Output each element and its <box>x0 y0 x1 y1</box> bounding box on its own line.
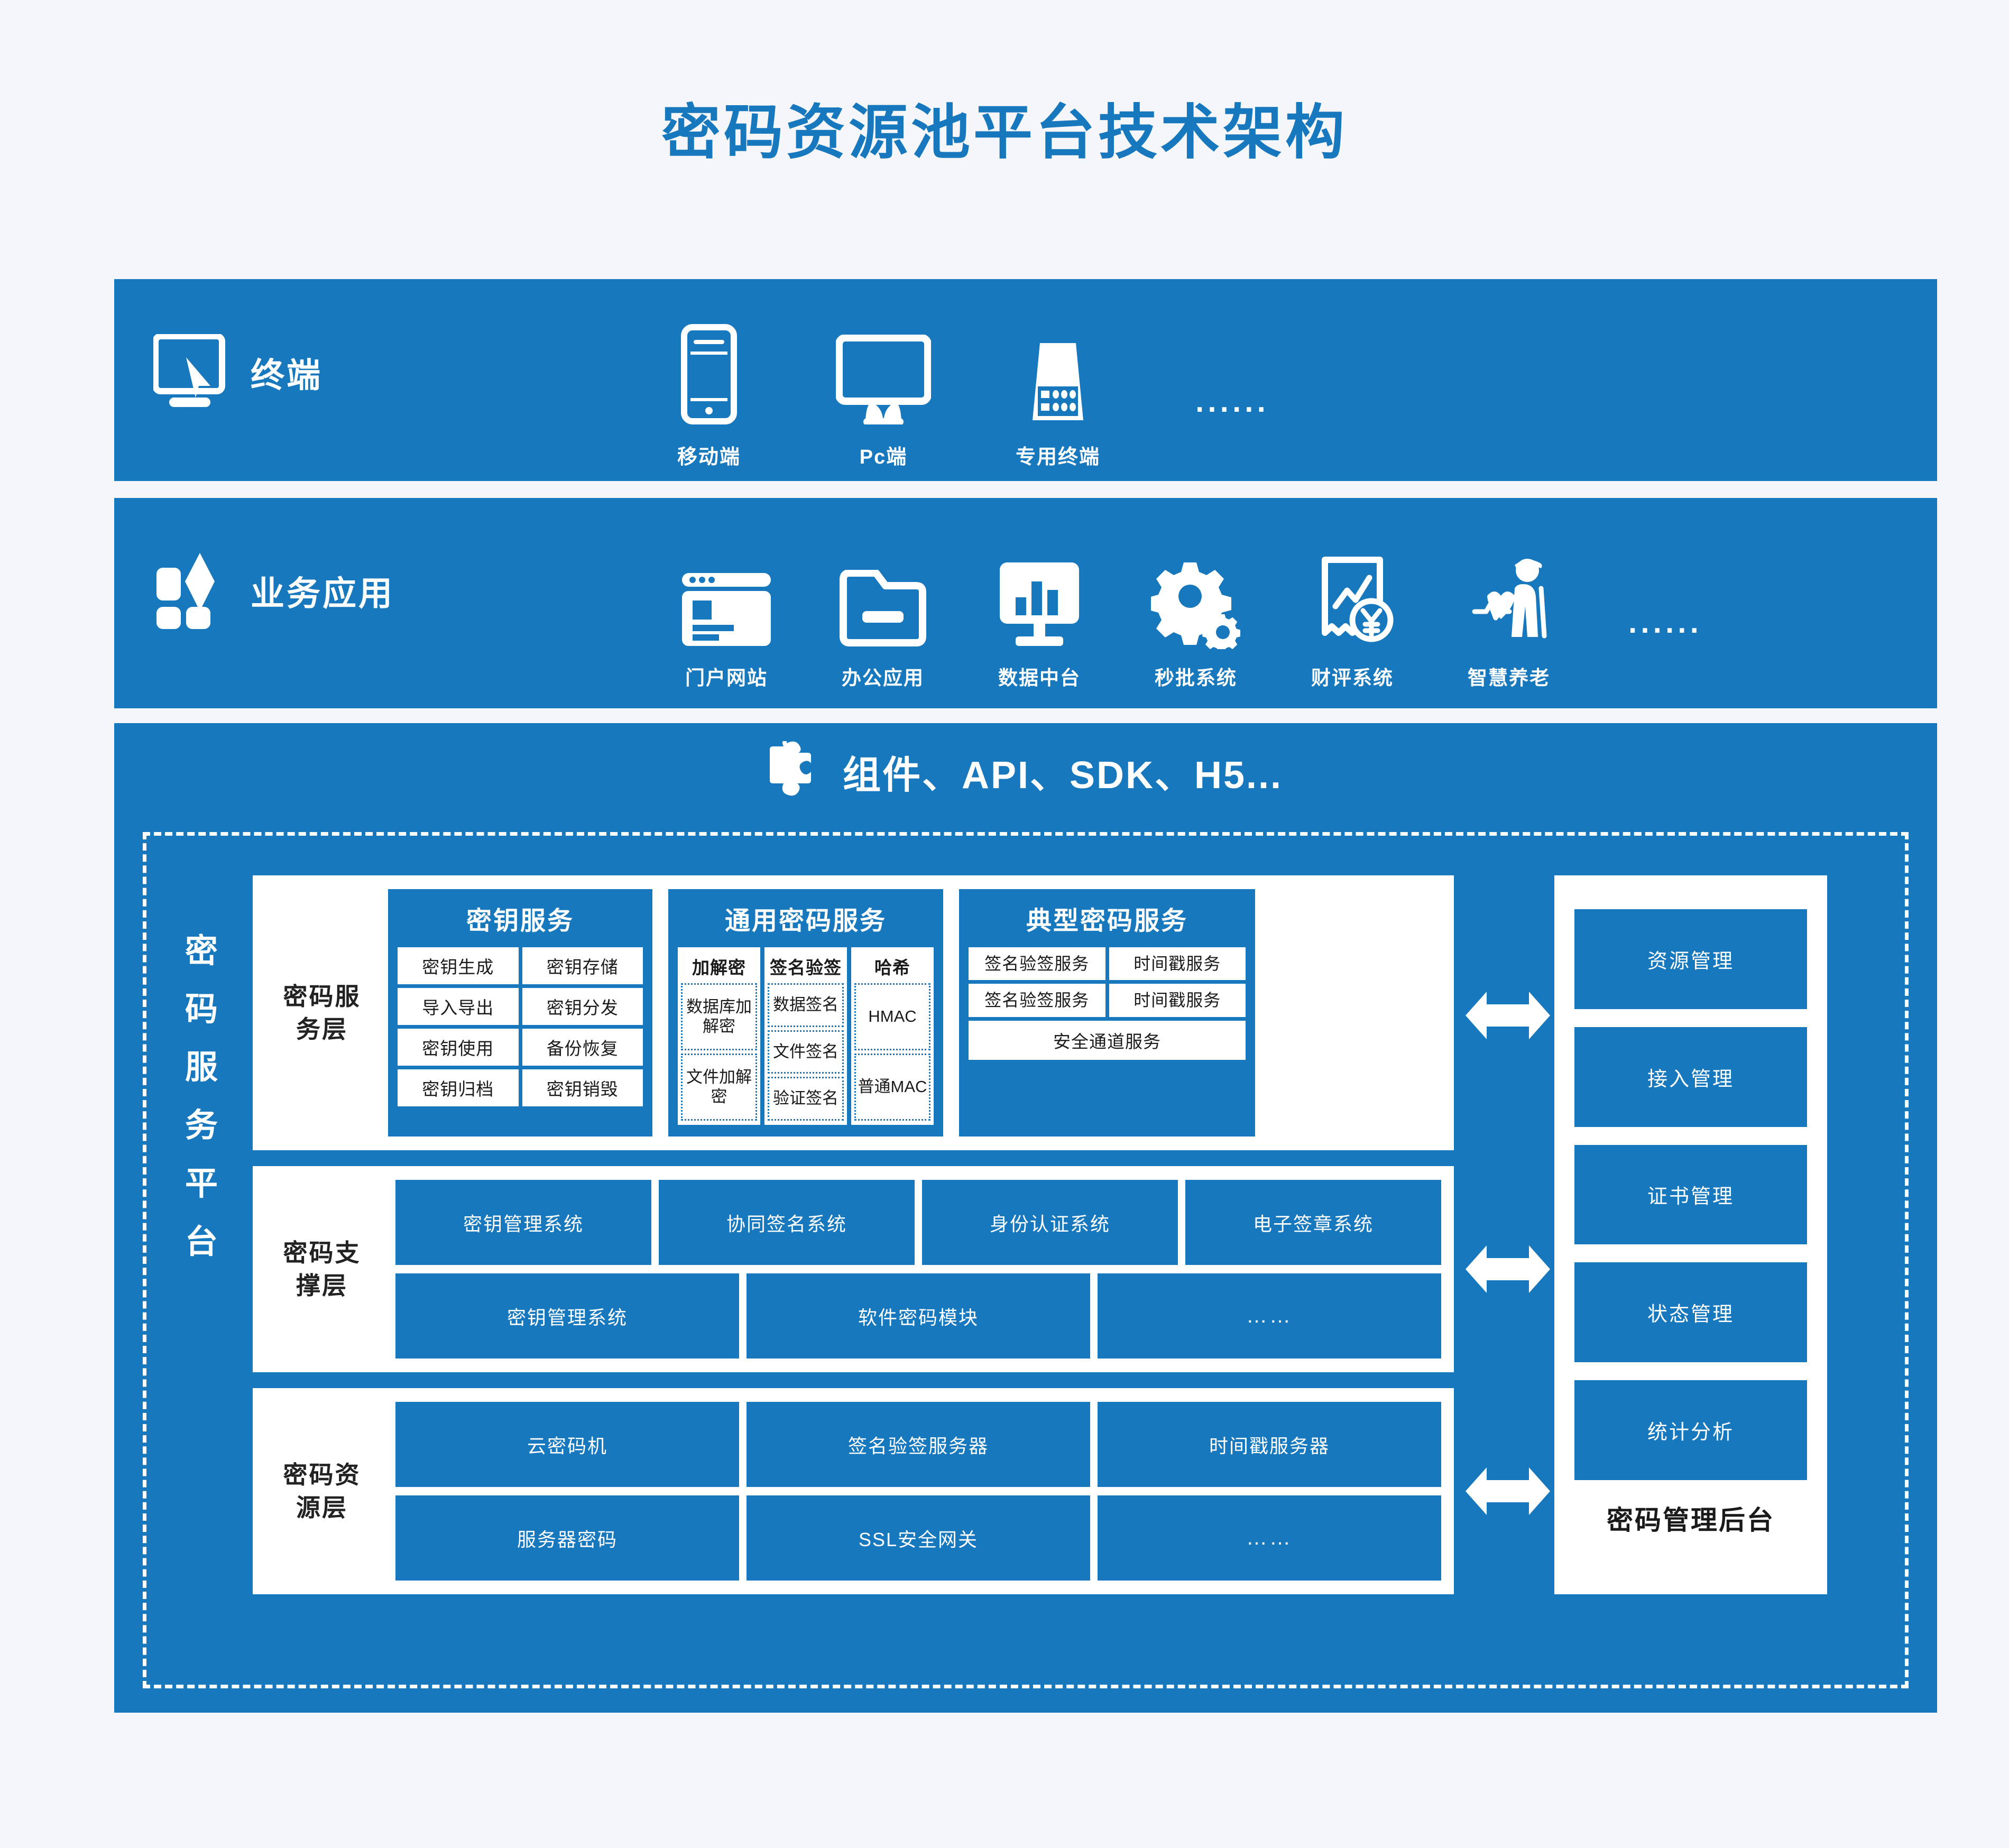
vertical-label-char: 平 <box>185 1157 218 1204</box>
side-label-line: 密码资 <box>283 1458 361 1491</box>
support-tile[interactable]: 密钥管理系统 <box>395 1273 739 1359</box>
service-group-list: 密钥服务 密钥生成 密钥存储 导入导出 密钥分发 密钥使用 备份恢复 密钥归档 … <box>388 889 1440 1136</box>
page-title: 密码资源池平台技术架构 <box>0 85 2009 170</box>
platform-vertical-label: 密 码 服 务 平 台 <box>162 924 241 1262</box>
general-column-signature: 签名验签 数据签名 文件签名 验证签名 <box>764 947 847 1125</box>
typical-service-cell[interactable]: 签名验签服务 <box>969 984 1105 1017</box>
admin-item-access-management[interactable]: 接入管理 <box>1574 1027 1807 1127</box>
app-item-caption: 智慧养老 <box>1468 662 1550 690</box>
app-item-data-platform: 数据中台 <box>961 549 1118 690</box>
terminal-ellipsis-wrap: ······ <box>1145 392 1320 469</box>
general-column-item[interactable]: 普通MAC <box>854 1054 930 1121</box>
terminal-layer-label: 终端 <box>251 348 322 397</box>
admin-item-certificate-management[interactable]: 证书管理 <box>1574 1145 1807 1245</box>
support-tile-ellipsis: …… <box>1098 1273 1441 1359</box>
terminal-ellipsis: ······ <box>1195 392 1269 427</box>
support-layer-card: 密码支 撑层 密钥管理系统 协同签名系统 身份认证系统 电子签章系统 密钥管理系… <box>253 1166 1454 1372</box>
bar-chart-monitor-icon <box>994 549 1084 649</box>
side-label-line: 务层 <box>296 1013 348 1046</box>
service-group-key: 密钥服务 密钥生成 密钥存储 导入导出 密钥分发 密钥使用 备份恢复 密钥归档 … <box>388 889 652 1136</box>
terminal-layer-band: 终端 移动端 <box>114 279 1937 481</box>
app-item-caption: 财评系统 <box>1311 662 1394 690</box>
folder-icon <box>838 549 928 649</box>
terminal-item-dedicated: 专用终端 <box>971 319 1145 469</box>
admin-item-statistics-analysis[interactable]: 统计分析 <box>1574 1380 1807 1480</box>
resource-tile-ellipsis: …… <box>1098 1495 1441 1581</box>
browser-window-icon <box>679 549 774 649</box>
support-layer-side-label: 密码支 撑层 <box>266 1166 377 1372</box>
app-ellipsis: ······ <box>1628 613 1702 648</box>
app-item-financial-review: 财评系统 <box>1274 549 1431 690</box>
app-item-caption: 秒批系统 <box>1155 662 1237 690</box>
typical-service-wide-cell[interactable]: 安全通道服务 <box>969 1021 1246 1060</box>
service-layer-card: 密码服 务层 密钥服务 密钥生成 密钥存储 导入导出 密钥分发 密钥使用 备份恢… <box>253 875 1454 1150</box>
application-item-list: 门户网站 办公应用 <box>648 521 1906 690</box>
general-column-title: 哈希 <box>854 950 930 983</box>
general-column-encrypt: 加解密 数据库加解密 文件加解密 <box>678 947 760 1125</box>
blocks-diamond-icon <box>153 550 233 632</box>
support-tile-row: 密钥管理系统 协同签名系统 身份认证系统 电子签章系统 <box>395 1180 1441 1265</box>
terminal-item-list: 移动端 Pc端 <box>622 311 1901 469</box>
typical-service-grid: 签名验签服务 时间戳服务 签名验签服务 时间戳服务 <box>969 947 1246 1017</box>
vertical-label-char: 服 <box>185 1040 218 1088</box>
app-item-caption: 数据中台 <box>998 662 1081 690</box>
elderly-care-icon <box>1464 549 1554 649</box>
terminal-layer-header: 终端 <box>153 334 322 411</box>
key-service-cell[interactable]: 密钥销毁 <box>522 1069 643 1106</box>
admin-item-list: 资源管理 接入管理 证书管理 状态管理 统计分析 <box>1574 909 1807 1480</box>
resource-tile-row: 服务器密码 SSL安全网关 …… <box>395 1495 1441 1581</box>
double-arrow-icon <box>1466 1241 1550 1300</box>
app-item-office: 办公应用 <box>805 549 961 690</box>
key-service-cell[interactable]: 密钥归档 <box>398 1069 519 1106</box>
support-tile[interactable]: 电子签章系统 <box>1185 1180 1441 1265</box>
support-tile[interactable]: 身份认证系统 <box>922 1180 1178 1265</box>
resource-tile[interactable]: SSL安全网关 <box>747 1495 1090 1581</box>
general-service-columns: 加解密 数据库加解密 文件加解密 签名验签 数据签名 文件签名 验证签名 哈希 <box>678 947 934 1125</box>
general-column-title: 签名验签 <box>768 950 844 983</box>
terminal-item-pc: Pc端 <box>796 319 971 469</box>
resource-tile-row: 云密码机 签名验签服务器 时间戳服务器 <box>395 1402 1441 1487</box>
general-column-item[interactable]: 数据库加解密 <box>681 983 757 1050</box>
resource-layer-side-label: 密码资 源层 <box>266 1388 377 1594</box>
key-service-cell[interactable]: 密钥存储 <box>522 947 643 984</box>
platform-band: 组件、API、SDK、H5... 密 码 服 务 平 台 密码服 务层 密钥服务 <box>114 723 1937 1713</box>
puzzle-piece-icon <box>769 741 822 802</box>
double-arrow-icon <box>1466 987 1550 1046</box>
general-column-item[interactable]: HMAC <box>854 983 930 1050</box>
support-tile[interactable]: 软件密码模块 <box>747 1273 1090 1359</box>
admin-item-resource-management[interactable]: 资源管理 <box>1574 909 1807 1009</box>
terminal-item-caption: 专用终端 <box>1016 440 1100 469</box>
resource-tile[interactable]: 云密码机 <box>395 1402 739 1487</box>
app-item-caption: 办公应用 <box>842 662 924 690</box>
admin-panel-card: 资源管理 接入管理 证书管理 状态管理 统计分析 密码管理后台 <box>1554 875 1827 1594</box>
side-label-line: 撑层 <box>296 1269 348 1302</box>
app-ellipsis-wrap: ······ <box>1587 613 1744 690</box>
service-group-typical: 典型密码服务 签名验签服务 时间戳服务 签名验签服务 时间戳服务 安全通道服务 <box>959 889 1255 1136</box>
support-tile-wrap: 密钥管理系统 协同签名系统 身份认证系统 电子签章系统 密钥管理系统 软件密码模… <box>395 1180 1441 1359</box>
vertical-label-char: 码 <box>185 982 218 1030</box>
general-column-item[interactable]: 文件加解密 <box>681 1054 757 1121</box>
support-tile-row: 密钥管理系统 软件密码模块 …… <box>395 1273 1441 1359</box>
side-label-line: 密码服 <box>283 980 361 1013</box>
desktop-monitor-icon <box>836 319 931 424</box>
app-item-instant-approval: 秒批系统 <box>1118 549 1274 690</box>
smartphone-icon <box>680 319 738 424</box>
key-service-grid: 密钥生成 密钥存储 导入导出 密钥分发 密钥使用 备份恢复 密钥归档 密钥销毁 <box>398 947 643 1106</box>
app-item-caption: 门户网站 <box>685 662 768 690</box>
service-group-general: 通用密码服务 加解密 数据库加解密 文件加解密 签名验签 数据签名 文件签名 验… <box>668 889 943 1136</box>
terminal-item-caption: Pc端 <box>860 440 907 469</box>
dedicated-terminal-icon <box>1021 319 1095 424</box>
admin-panel-title: 密码管理后台 <box>1554 1499 1827 1537</box>
vertical-label-char: 密 <box>185 924 218 972</box>
key-service-cell[interactable]: 密钥生成 <box>398 947 519 984</box>
key-service-cell[interactable]: 密钥使用 <box>398 1029 519 1066</box>
terminal-item-caption: 移动端 <box>677 440 741 469</box>
service-layer-side-label: 密码服 务层 <box>266 875 377 1150</box>
typical-service-cell[interactable]: 时间戳服务 <box>1109 984 1246 1017</box>
general-column-hash: 哈希 HMAC 普通MAC <box>851 947 934 1125</box>
resource-layer-card: 密码资 源层 云密码机 签名验签服务器 时间戳服务器 服务器密码 SSL安全网关… <box>253 1388 1454 1594</box>
gears-icon <box>1151 549 1241 649</box>
admin-item-status-management[interactable]: 状态管理 <box>1574 1262 1807 1362</box>
typical-service-cell[interactable]: 时间戳服务 <box>1109 947 1246 980</box>
resource-tile-wrap: 云密码机 签名验签服务器 时间戳服务器 服务器密码 SSL安全网关 …… <box>395 1402 1441 1581</box>
app-item-smart-elderly-care: 智慧养老 <box>1431 549 1587 690</box>
api-strip-label: 组件、API、SDK、H5... <box>843 744 1283 799</box>
key-service-cell[interactable]: 密钥分发 <box>522 988 643 1025</box>
application-layer-band: 业务应用 门户网站 <box>114 498 1937 708</box>
service-group-title: 通用密码服务 <box>678 900 934 937</box>
terminal-item-mobile: 移动端 <box>622 319 796 469</box>
key-service-cell[interactable]: 导入导出 <box>398 988 519 1025</box>
monitor-cursor-icon <box>153 334 233 411</box>
app-item-portal: 门户网站 <box>648 549 805 690</box>
general-column-title: 加解密 <box>681 950 757 983</box>
resource-tile[interactable]: 签名验签服务器 <box>747 1402 1090 1487</box>
application-layer-label: 业务应用 <box>251 567 394 615</box>
key-service-cell[interactable]: 备份恢复 <box>522 1029 643 1066</box>
support-tile[interactable]: 协同签名系统 <box>659 1180 915 1265</box>
double-arrow-icon <box>1466 1463 1550 1522</box>
resource-tile[interactable]: 服务器密码 <box>395 1495 739 1581</box>
support-tile[interactable]: 密钥管理系统 <box>395 1180 651 1265</box>
side-label-line: 密码支 <box>283 1236 361 1269</box>
architecture-diagram: 密码资源池平台技术架构 终端 <box>0 0 2009 1848</box>
api-strip: 组件、API、SDK、H5... <box>114 732 1937 811</box>
application-layer-header: 业务应用 <box>153 550 394 632</box>
resource-tile[interactable]: 时间戳服务器 <box>1098 1402 1441 1487</box>
vertical-label-char: 台 <box>185 1215 218 1262</box>
service-group-title: 密钥服务 <box>398 900 643 937</box>
vertical-label-char: 务 <box>185 1098 218 1146</box>
general-column-item[interactable]: 验证签名 <box>768 1077 844 1121</box>
service-group-title: 典型密码服务 <box>969 900 1246 937</box>
typical-service-cell[interactable]: 签名验签服务 <box>969 947 1105 980</box>
general-column-item[interactable]: 数据签名 <box>768 983 844 1027</box>
side-label-line: 源层 <box>296 1491 348 1524</box>
general-column-item[interactable]: 文件签名 <box>768 1030 844 1074</box>
receipt-yuan-icon <box>1310 549 1395 649</box>
